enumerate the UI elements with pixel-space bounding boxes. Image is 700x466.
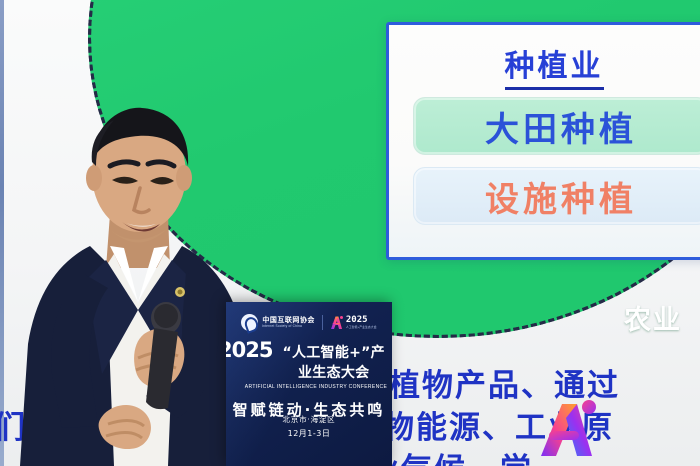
card-item-label: 大田种植 [485, 102, 637, 151]
logo-divider [322, 315, 323, 330]
card-title-text: 种植业 [505, 49, 604, 90]
body-text-line-3: 业气候、学 [368, 444, 533, 466]
isc-name-cn: 中国互联网协会 [262, 317, 315, 324]
card-item-facility-planting: 设施种植 [413, 167, 700, 225]
podium-title-cn: “人工智能+”产业生态大会 [275, 342, 392, 382]
ai-logo-subtitle: 人工智能+产业生态大会 [346, 326, 377, 329]
isc-name-en: Internet Society of China [262, 325, 312, 328]
isc-logo-icon [241, 314, 258, 331]
podium-main-title: 2025 “人工智能+”产业生态大会 ARTIFICIAL INTELLIGEN… [226, 338, 392, 420]
ai-logo-year: 2025 [346, 316, 377, 325]
podium-lectern: 中国互联网协会 Internet Society of China [226, 302, 392, 466]
podium-title-en: ARTIFICIAL INTELLIGENCE INDUSTRY CONFERE… [240, 384, 392, 390]
card-item-label: 设施种植 [485, 172, 637, 221]
ai-logo-watermark-icon [536, 398, 602, 460]
card-title: 种植业 [389, 41, 700, 85]
podium-city: 北京市·海淀区 [226, 414, 392, 425]
planting-industry-card: 种植业 大田种植 设施种植 [386, 22, 700, 260]
ai-logo-text: 2025 人工智能+产业生态大会 [346, 316, 377, 329]
isc-logo-text: 中国互联网协会 Internet Society of China [262, 317, 315, 329]
agriculture-label: 农业 [624, 298, 682, 337]
screenshot-root: 农业 种植业 大田种植 设施种植 们 动植物产品、通过 生物能源、工业原 业气候… [0, 0, 700, 466]
podium-meta: 北京市·海淀区 12月1-3日 [226, 414, 392, 439]
podium-year: 2025 [226, 338, 272, 362]
podium-date: 12月1-3日 [226, 428, 392, 439]
podium-title-row: 2025 “人工智能+”产业生态大会 [226, 338, 392, 382]
ai-badge-icon [330, 315, 343, 330]
isc-logo: 中国互联网协会 Internet Society of China [241, 314, 315, 331]
podium-logo-row: 中国互联网协会 Internet Society of China [226, 314, 392, 331]
card-item-field-planting: 大田种植 [413, 97, 700, 155]
conference-ai-logo: 2025 人工智能+产业生态大会 [330, 315, 377, 330]
